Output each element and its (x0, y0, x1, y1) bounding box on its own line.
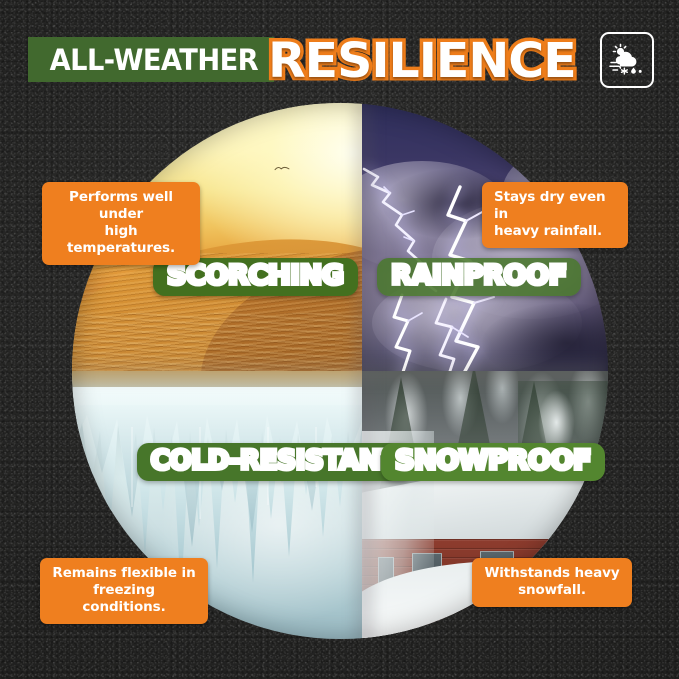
label-snowproof: SNOWPROOF (381, 443, 605, 481)
infographic-canvas: ALL-WEATHER RESILIENCE (0, 0, 679, 679)
header-title-part1: ALL-WEATHER (50, 43, 258, 77)
mixed-weather-icon (600, 32, 654, 88)
callout-snowproof: Withstands heavy snowfall. (472, 558, 632, 607)
label-rainproof: RAINPROOF (377, 258, 581, 296)
header-banner: ALL-WEATHER RESILIENCE (26, 30, 654, 92)
mixed-weather-icon-glyph (607, 40, 647, 80)
header-title-part2: RESILIENCE (268, 30, 576, 92)
callout-cold-resistant: Remains flexible in freezing conditions. (40, 558, 208, 624)
callout-scorching: Performs well under high temperatures. (42, 182, 200, 265)
label-cold-resistant: COLD-RESISTANT (137, 443, 411, 481)
header-green-bar: ALL-WEATHER (28, 37, 274, 82)
callout-rainproof: Stays dry even in heavy rainfall. (482, 182, 628, 248)
